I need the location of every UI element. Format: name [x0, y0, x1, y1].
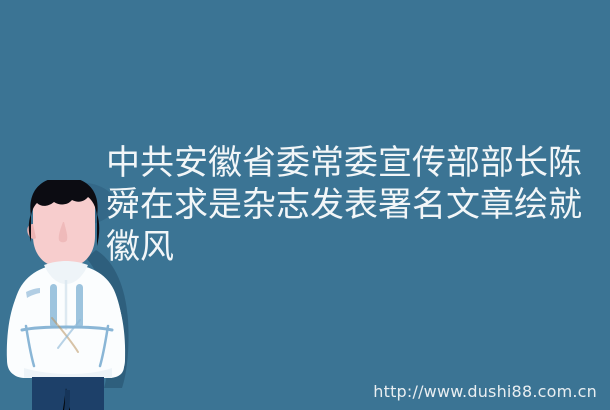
left-sleeve: [7, 290, 36, 376]
news-cover-card: 中共安徽省委常委宣传部部长陈舜在求是杂志发表署名文章绘就徽风 http://ww…: [0, 0, 610, 410]
site-url-watermark: http://www.dushi88.com.cn: [373, 382, 597, 402]
hair-left-side: [29, 214, 31, 242]
page-title: 中共安徽省委常委宣传部部长陈舜在求是杂志发表署名文章绘就徽风: [106, 142, 598, 268]
